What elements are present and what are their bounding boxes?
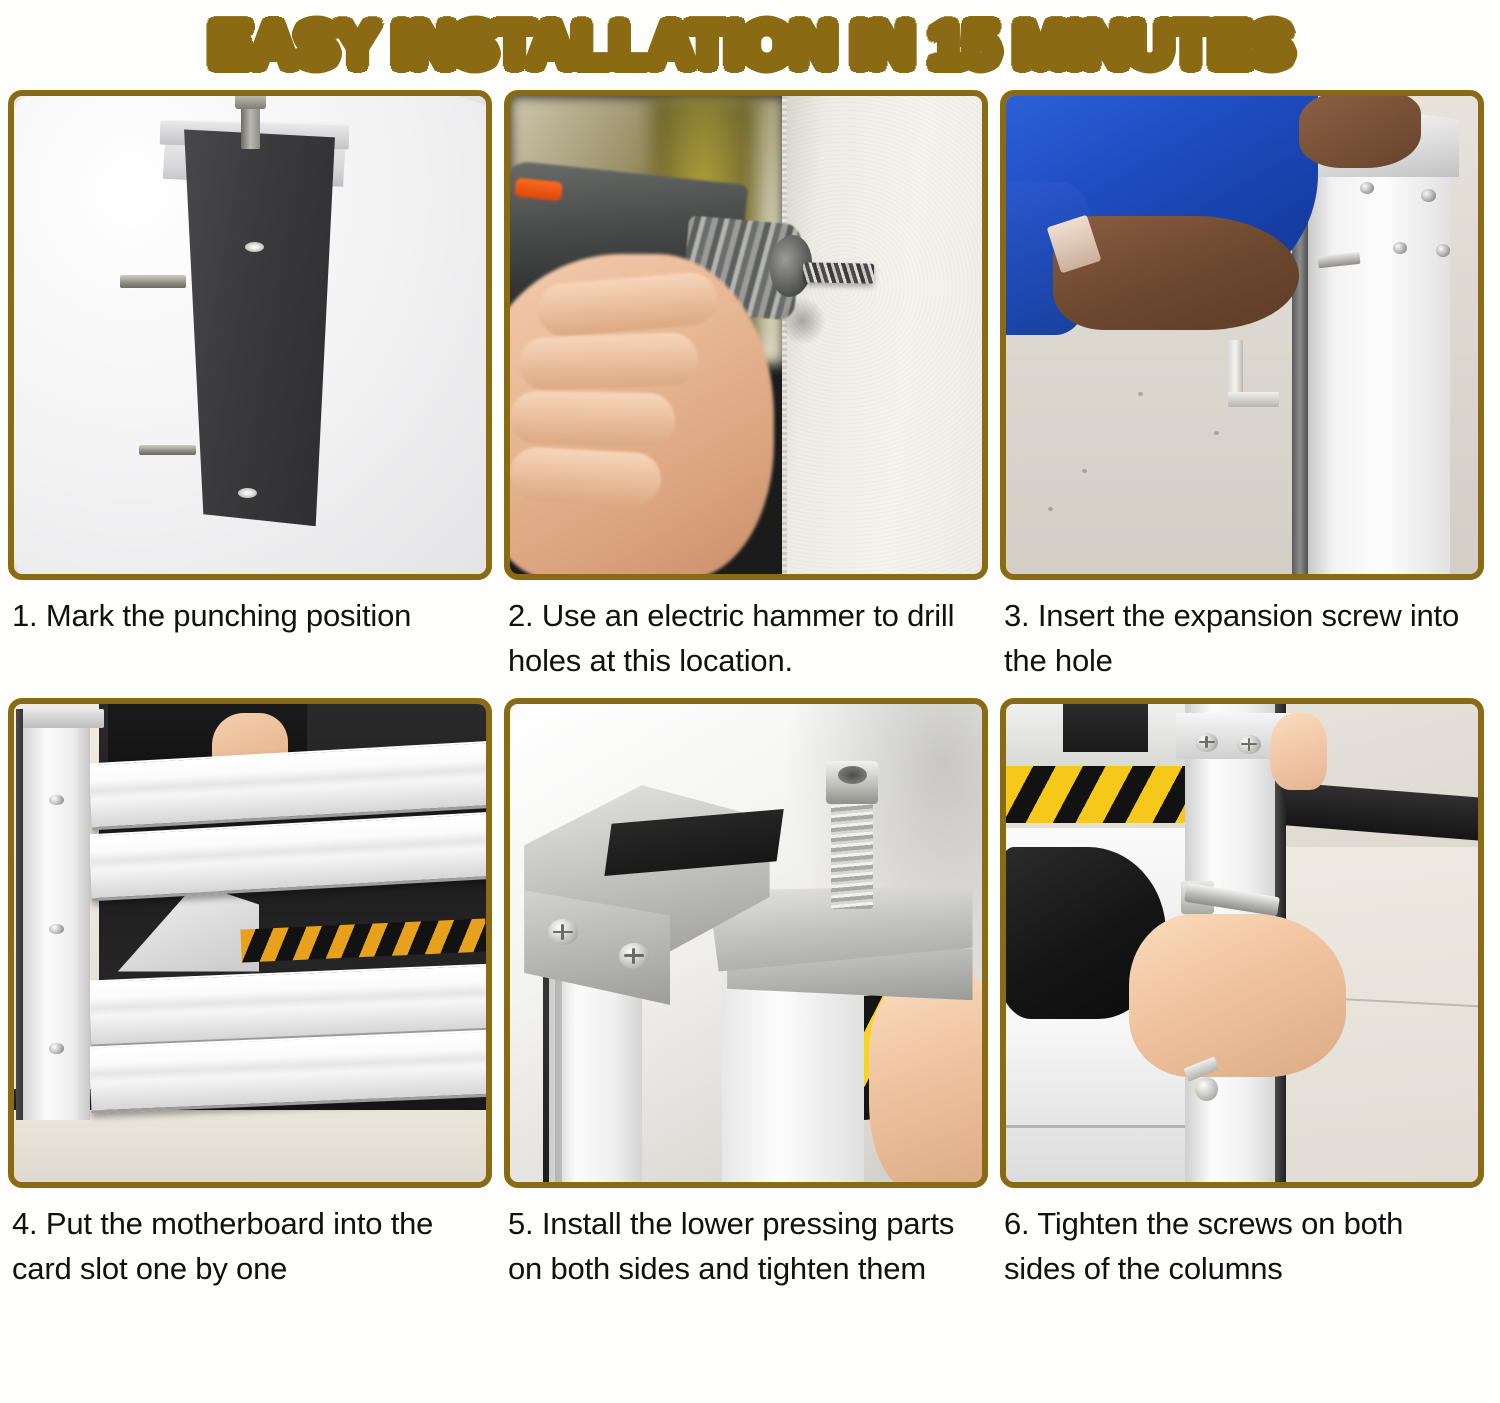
board-seam — [1006, 1125, 1195, 1128]
step-card-5: 5. Install the lower pressing parts on b… — [504, 698, 988, 1292]
dark-gap — [1063, 704, 1148, 752]
header-banner: EASY INSTALLATION IN 15 MINUTES — [0, 0, 1500, 90]
step-card-4: 4. Put the motherboard into the card slo… — [8, 698, 492, 1292]
top-bolt-icon — [241, 106, 261, 149]
column-screw — [1436, 244, 1450, 256]
white-column — [23, 709, 89, 1120]
step-caption-1: 1. Mark the punching position — [8, 580, 492, 639]
hand — [1129, 914, 1346, 1077]
finger — [519, 332, 700, 391]
photo-scene-pressing-part — [510, 704, 982, 1182]
column-screw — [49, 924, 63, 935]
step-caption-3: 3. Insert the expansion screw into the h… — [1000, 580, 1484, 684]
steps-grid: 1. Mark the punching position — [0, 90, 1500, 1292]
thumb — [1270, 713, 1327, 789]
column-screw — [1421, 189, 1435, 201]
phillips-screw-icon — [1195, 733, 1219, 752]
phillips-screw-icon — [619, 943, 650, 969]
bolt-head-icon — [826, 761, 878, 804]
threaded-bolt-shaft — [831, 795, 873, 910]
floor-speck — [1214, 431, 1219, 435]
drill-dust — [779, 297, 826, 345]
finger — [510, 391, 676, 446]
step-caption-5: 5. Install the lower pressing parts on b… — [504, 1188, 988, 1292]
steps-row-top: 1. Mark the punching position — [8, 90, 1492, 684]
steps-row-bottom: 4. Put the motherboard into the card slo… — [8, 698, 1492, 1292]
step-photo-3 — [1000, 90, 1484, 580]
drill-bit-icon — [802, 263, 873, 284]
column-screw — [49, 795, 63, 806]
step-photo-6 — [1000, 698, 1484, 1188]
finger — [510, 446, 662, 506]
photo-scene-insert-boards — [14, 704, 486, 1182]
phillips-screw-icon — [1237, 735, 1261, 754]
hazard-tape — [1006, 766, 1185, 823]
column-screw — [49, 1043, 63, 1054]
white-column — [1299, 120, 1450, 574]
photo-scene-expansion-screw — [1006, 96, 1478, 574]
step-card-3: 3. Insert the expansion screw into the h… — [1000, 90, 1484, 684]
upper-punch-hole — [245, 242, 264, 252]
second-hand — [1299, 96, 1422, 168]
allen-key-icon — [1228, 340, 1243, 407]
step-photo-4 — [8, 698, 492, 1188]
step-caption-4: 4. Put the motherboard into the card slo… — [8, 1188, 492, 1292]
lower-punch-hole — [238, 488, 257, 498]
step-card-6: 6. Tighten the screws on both sides of t… — [1000, 698, 1484, 1292]
photo-scene-tighten-screws — [1006, 704, 1478, 1182]
barrier-board — [722, 967, 864, 1182]
photo-scene-mark-position — [14, 96, 486, 574]
step-photo-5 — [504, 698, 988, 1188]
step-photo-1 — [8, 90, 492, 580]
lower-bolt-icon — [139, 445, 196, 456]
step-caption-6: 6. Tighten the screws on both sides of t… — [1000, 1188, 1484, 1292]
step-caption-2: 2. Use an electric hammer to drill holes… — [504, 580, 988, 684]
column-top-cap — [23, 709, 103, 728]
lower-screw-icon — [1195, 1077, 1219, 1101]
photo-scene-drill-hole — [510, 96, 982, 574]
step-card-2: 2. Use an electric hammer to drill holes… — [504, 90, 988, 684]
step-card-1: 1. Mark the punching position — [8, 90, 492, 639]
floor-speck — [1082, 469, 1087, 473]
fingers — [869, 972, 982, 1182]
step-photo-2 — [504, 90, 988, 580]
middle-bolt-icon — [120, 275, 186, 287]
page-title: EASY INSTALLATION IN 15 MINUTES — [209, 10, 1291, 81]
